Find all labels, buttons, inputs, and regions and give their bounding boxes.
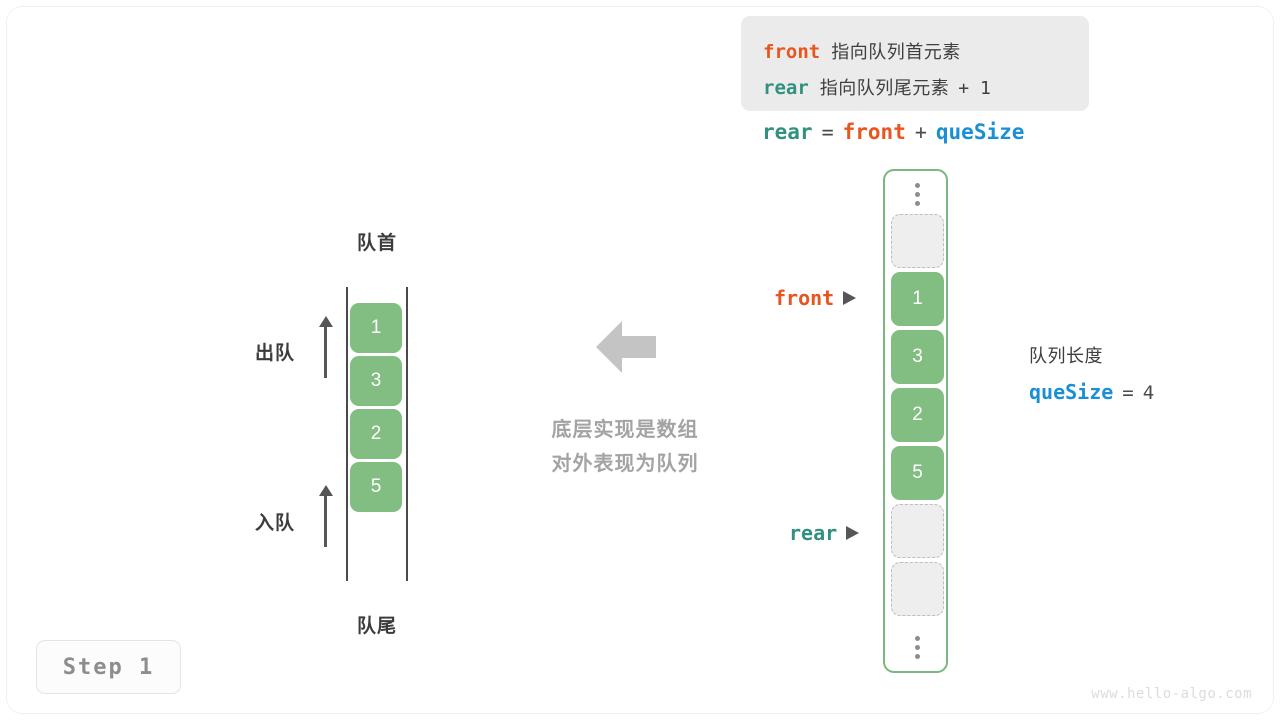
vertical-ellipsis-icon-top [885, 183, 950, 206]
legend-line-front: front 指向队列首元素 [763, 38, 961, 64]
array-container: 1 3 2 5 [883, 169, 948, 673]
formula-term-front: front [843, 120, 906, 144]
array-cell[interactable] [891, 562, 944, 616]
middle-caption-line1: 底层实现是数组 [500, 413, 750, 447]
array-cell[interactable]: 2 [891, 388, 944, 442]
pointer-front-label: front [774, 286, 834, 310]
dequeue-label: 出队 [255, 338, 295, 365]
vertical-ellipsis-icon-bottom [885, 636, 950, 659]
queue-rail-right [406, 287, 408, 581]
queue-cell[interactable]: 5 [350, 462, 402, 512]
array-cell[interactable]: 5 [891, 446, 944, 500]
formula-term-quesize: queSize [936, 120, 1025, 144]
queue-rail-left [346, 287, 348, 581]
arrow-up-icon-enqueue [317, 485, 335, 547]
queue-length-note: 队列长度 queSize = 4 [1029, 342, 1154, 404]
legend-plus-one: + 1 [958, 78, 991, 99]
queue-tail-label: 队尾 [347, 611, 407, 638]
middle-caption: 底层实现是数组 对外表现为队列 [500, 413, 750, 481]
queue-cell[interactable]: 2 [350, 409, 402, 459]
legend-text-front: 指向队列首元素 [831, 38, 961, 64]
formula-rear-equals: rear = front + queSize [762, 120, 1024, 144]
arrow-right-icon [843, 291, 856, 305]
quesize-value: 4 [1143, 382, 1154, 404]
formula-plus-sign: + [915, 120, 927, 144]
queue-cell-list: 1 3 2 5 [350, 303, 402, 515]
quesize-equals-sign: = [1122, 382, 1133, 404]
watermark: www.hello-algo.com [1091, 686, 1252, 702]
enqueue-label: 入队 [255, 508, 295, 535]
legend-line-rear: rear 指向队列尾元素 + 1 [763, 74, 991, 100]
legend-box: front 指向队列首元素 rear 指向队列尾元素 + 1 [741, 16, 1089, 111]
quesize-variable: queSize [1029, 380, 1113, 404]
formula-equals-sign: = [822, 120, 834, 144]
diagram-canvas: front 指向队列首元素 rear 指向队列尾元素 + 1 rear = fr… [0, 0, 1280, 720]
legend-keyword-rear: rear [763, 77, 809, 99]
pointer-rear: rear [789, 521, 859, 545]
pointer-front: front [774, 286, 856, 310]
array-cell-list: 1 3 2 5 [891, 214, 944, 620]
step-badge: Step 1 [36, 640, 181, 694]
arrow-right-icon [846, 526, 859, 540]
quesize-expression: queSize = 4 [1029, 380, 1154, 404]
array-cell[interactable]: 3 [891, 330, 944, 384]
formula-lhs-rear: rear [762, 120, 813, 144]
array-cell[interactable]: 1 [891, 272, 944, 326]
queue-cell[interactable]: 1 [350, 303, 402, 353]
middle-caption-line2: 对外表现为队列 [500, 447, 750, 481]
arrow-left-icon-big [594, 318, 658, 376]
pointer-rear-label: rear [789, 521, 837, 545]
array-cell[interactable] [891, 214, 944, 268]
array-cell[interactable] [891, 504, 944, 558]
legend-text-rear: 指向队列尾元素 [820, 74, 950, 100]
arrow-up-icon-dequeue [317, 316, 335, 378]
queue-cell[interactable]: 3 [350, 356, 402, 406]
queue-head-label: 队首 [347, 228, 407, 255]
legend-keyword-front: front [763, 41, 820, 63]
queue-length-title: 队列长度 [1029, 342, 1154, 368]
